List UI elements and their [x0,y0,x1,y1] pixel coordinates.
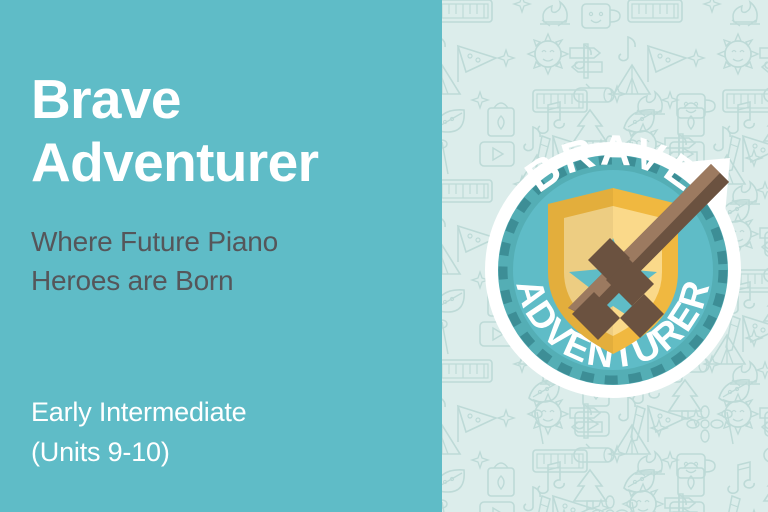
tagline-line-2: Heroes are Born [31,261,431,300]
brave-adventurer-card: Brave Adventurer Where Future Piano Hero… [0,0,768,512]
level-label: Early Intermediate (Units 9-10) [31,392,431,472]
level-line-1: Early Intermediate [31,392,431,432]
title-line-1: Brave [31,68,431,131]
level-line-2: (Units 9-10) [31,432,431,472]
page-title: Brave Adventurer [31,68,431,194]
tagline: Where Future Piano Heroes are Born [31,222,431,300]
left-panel: Brave Adventurer Where Future Piano Hero… [0,0,442,512]
tagline-line-1: Where Future Piano [31,222,431,261]
badge-graphic: BRAVE ADVENTURER [468,122,758,407]
title-line-2: Adventurer [31,131,431,194]
brave-adventurer-badge: BRAVE ADVENTURER [468,122,758,407]
